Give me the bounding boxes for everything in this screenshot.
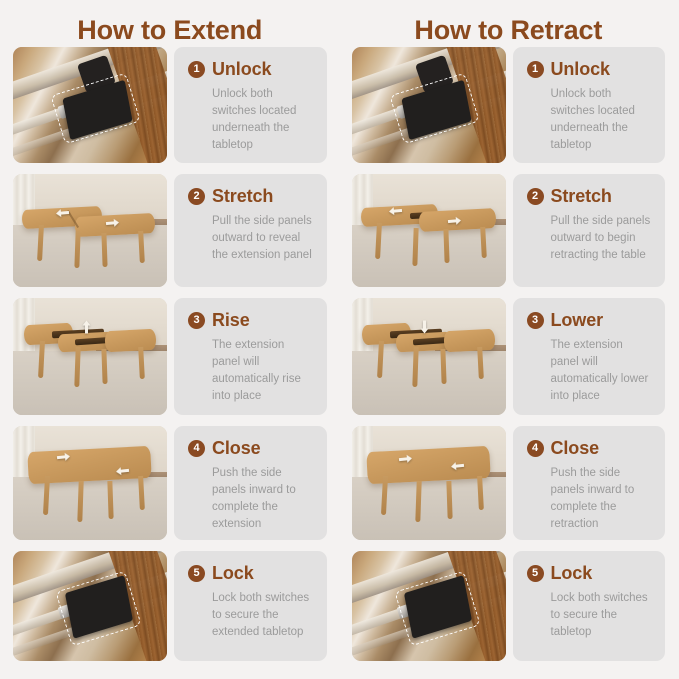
step-description: The extension panel will automatically r… (188, 337, 313, 405)
step-photo-unlock-extend (13, 47, 167, 163)
step-title: Lock (551, 564, 593, 583)
step-number-badge: 1 (527, 61, 544, 78)
arrow-up-icon (81, 319, 92, 335)
step-photo-lock-extend (13, 551, 167, 661)
step-description: Push the side panels inward to complete … (527, 465, 652, 533)
arrow-left-icon (114, 464, 130, 478)
step-description: The extension panel will automatically l… (527, 337, 652, 405)
step-description: Pull the side panels outward to reveal t… (188, 213, 313, 264)
step-number-badge: 2 (188, 188, 205, 205)
step-title: Lower (551, 311, 604, 330)
step-header: 4 Close (527, 439, 652, 458)
step-text-card: 3 Lower The extension panel will automat… (513, 298, 666, 415)
step-text-card: 1 Unlock Unlock both switches located un… (174, 47, 327, 163)
arrow-down-icon (419, 319, 430, 335)
step-number-badge: 5 (188, 565, 205, 582)
arrow-right-icon (446, 214, 462, 227)
step-item: 2 Stretch Pull the side panels outward t… (13, 174, 327, 287)
arrow-right-icon (105, 216, 121, 229)
instruction-infographic: How to Extend (0, 0, 679, 679)
step-photo-lock-retract (352, 551, 506, 661)
step-photo-close-extend (13, 426, 167, 540)
step-header: 1 Unlock (188, 60, 313, 79)
column-retract: How to Retract (340, 0, 679, 679)
step-photo-stretch-extend (13, 174, 167, 287)
step-header: 4 Close (188, 439, 313, 458)
step-text-card: 4 Close Push the side panels inward to c… (513, 426, 666, 540)
two-column-layout: How to Extend (0, 0, 679, 679)
step-number-badge: 3 (188, 312, 205, 329)
step-description: Unlock both switches located underneath … (188, 86, 313, 154)
step-photo-rise-extend (13, 298, 167, 415)
step-item: 1 Unlock Unlock both switches located un… (13, 47, 327, 163)
step-item: 5 Lock Lock both switches to secure the … (352, 551, 666, 661)
step-header: 2 Stretch (527, 187, 652, 206)
step-text-card: 5 Lock Lock both switches to secure the … (174, 551, 327, 661)
step-text-card: 5 Lock Lock both switches to secure the … (513, 551, 666, 661)
column-title-extend: How to Extend (13, 0, 327, 47)
step-title: Stretch (212, 187, 273, 206)
step-description: Push the side panels inward to complete … (188, 465, 313, 533)
step-photo-unlock-retract (352, 47, 506, 163)
arrow-right-icon (56, 450, 72, 464)
dashed-highlight-icon (50, 73, 140, 145)
arrow-left-icon (388, 204, 404, 217)
step-item: 1 Unlock Unlock both switches located un… (352, 47, 666, 163)
step-text-card: 3 Rise The extension panel will automati… (174, 298, 327, 415)
column-extend: How to Extend (0, 0, 340, 679)
step-header: 5 Lock (527, 564, 652, 583)
step-header: 3 Rise (188, 311, 313, 330)
step-header: 5 Lock (188, 564, 313, 583)
step-item: 2 Stretch Pull the side panels outward t… (352, 174, 666, 287)
step-title: Unlock (551, 60, 610, 79)
step-description: Lock both switches to secure the extende… (188, 590, 313, 641)
step-item: 4 Close Push the side panels inward to c… (13, 426, 327, 540)
step-item: 3 Rise The extension panel will automati… (13, 298, 327, 415)
step-title: Lock (212, 564, 254, 583)
step-description: Unlock both switches located underneath … (527, 86, 652, 154)
step-description: Pull the side panels outward to begin re… (527, 213, 652, 264)
arrow-left-icon (54, 206, 70, 219)
step-number-badge: 2 (527, 188, 544, 205)
step-text-card: 1 Unlock Unlock both switches located un… (513, 47, 666, 163)
step-title: Stretch (551, 187, 612, 206)
step-item: 3 Lower The extension panel will automat… (352, 298, 666, 415)
step-number-badge: 5 (527, 565, 544, 582)
step-number-badge: 3 (527, 312, 544, 329)
step-photo-close-retract (352, 426, 506, 540)
step-header: 2 Stretch (188, 187, 313, 206)
step-number-badge: 4 (188, 440, 205, 457)
step-title: Unlock (212, 60, 271, 79)
step-title: Close (551, 439, 600, 458)
column-title-retract: How to Retract (352, 0, 666, 47)
step-number-badge: 4 (527, 440, 544, 457)
step-item: 5 Lock Lock both switches to secure the … (13, 551, 327, 661)
step-item: 4 Close Push the side panels inward to c… (352, 426, 666, 540)
step-title: Close (212, 439, 261, 458)
steps-list-retract: 1 Unlock Unlock both switches located un… (352, 47, 666, 679)
step-title: Rise (212, 311, 250, 330)
step-text-card: 2 Stretch Pull the side panels outward t… (174, 174, 327, 287)
step-description: Lock both switches to secure the tableto… (527, 590, 652, 641)
step-number-badge: 1 (188, 61, 205, 78)
step-photo-stretch-retract (352, 174, 506, 287)
step-header: 3 Lower (527, 311, 652, 330)
step-header: 1 Unlock (527, 60, 652, 79)
steps-list-extend: 1 Unlock Unlock both switches located un… (13, 47, 327, 679)
step-text-card: 2 Stretch Pull the side panels outward t… (513, 174, 666, 287)
arrow-left-icon (449, 459, 465, 473)
arrow-right-icon (397, 453, 413, 467)
dashed-highlight-icon (389, 73, 479, 145)
step-photo-lower-retract (352, 298, 506, 415)
step-text-card: 4 Close Push the side panels inward to c… (174, 426, 327, 540)
